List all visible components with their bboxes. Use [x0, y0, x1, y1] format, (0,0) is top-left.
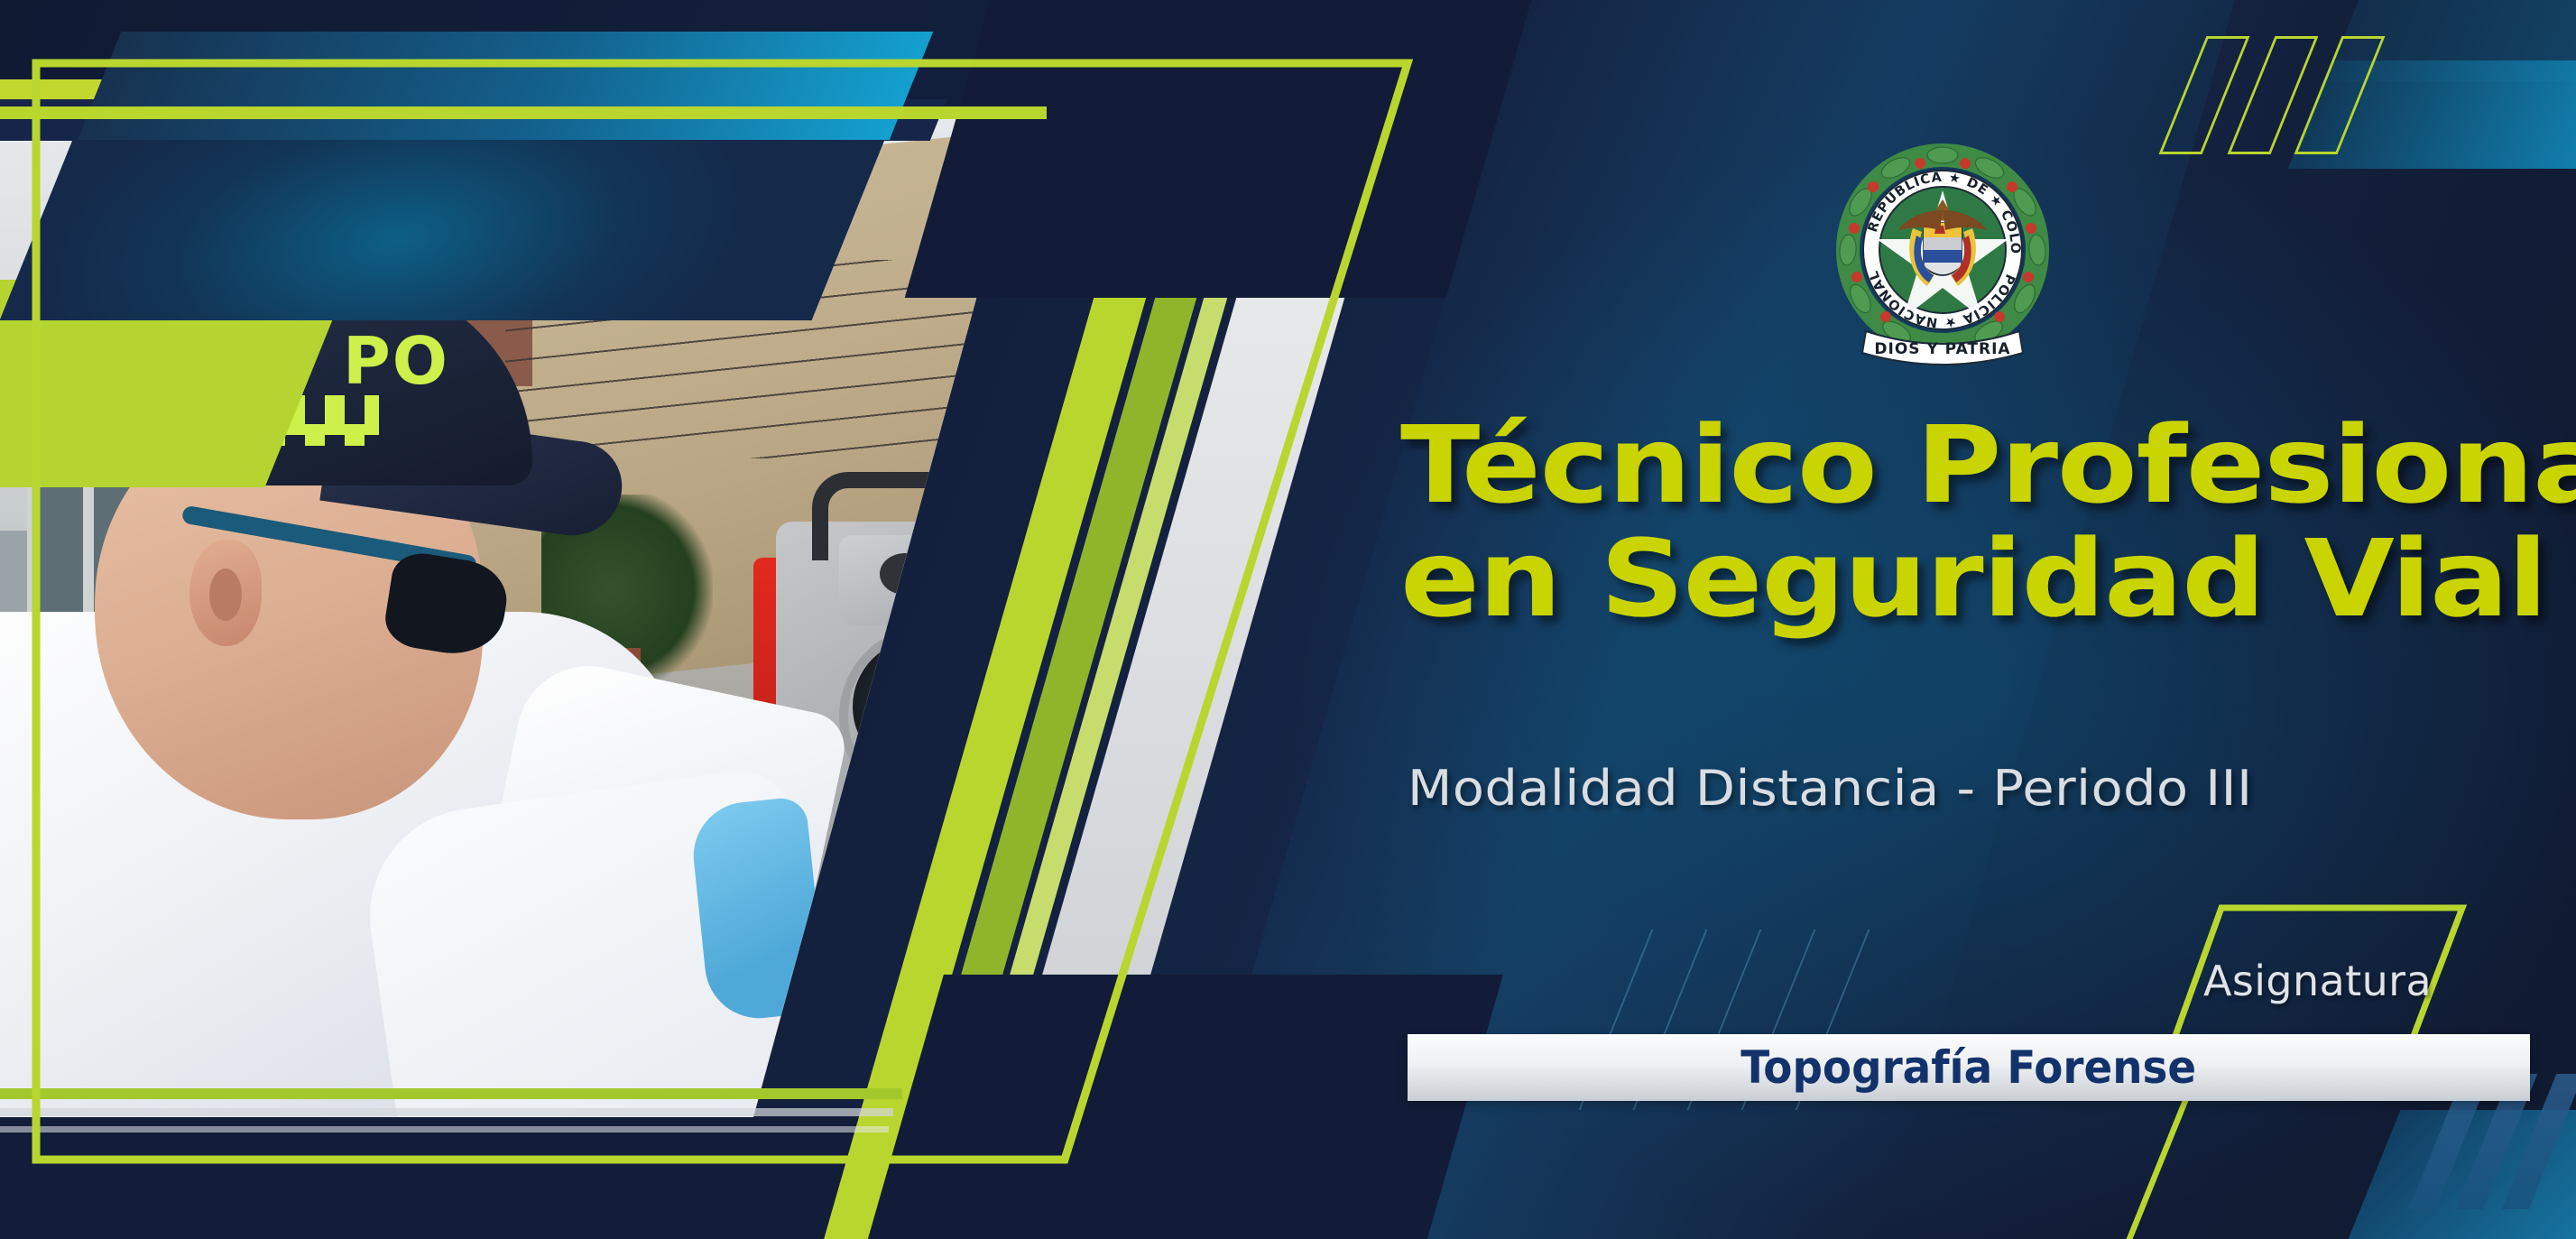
- decor-teal-block-lower: [0, 140, 884, 320]
- decor-teal-block-upper: [78, 32, 933, 140]
- diagonal-mask-bottom: [861, 975, 1503, 1239]
- subject-bar: Topografía Forense: [1408, 1034, 2530, 1101]
- program-subtitle: Modalidad Distancia - Periodo III: [1408, 760, 2252, 817]
- program-title-line2: en Seguridad Vial: [1400, 522, 2576, 635]
- diagonal-mask-top: [905, 0, 1532, 298]
- course-banner: INVIAS PENTAX: [0, 0, 2576, 1239]
- photo-bottom-gray-line: [0, 1108, 893, 1116]
- photo-bottom-gray-line-2: [0, 1126, 889, 1133]
- program-title-line1: Técnico Profesional: [1400, 402, 2576, 527]
- asignatura-label: Asignatura: [2203, 957, 2432, 1005]
- photo-bottom-green-line: [0, 1088, 902, 1099]
- svg-text:DIOS Y PATRIA: DIOS Y PATRIA: [1874, 340, 2010, 358]
- police-crest-emblem: REPÚBLICA ★ DE ★ COLOMBIA POLICÍA ★ NACI…: [1830, 140, 2055, 365]
- program-title: Técnico Profesional en Seguridad Vial: [1400, 408, 2576, 636]
- subject-name: Topografía Forense: [1741, 1041, 2197, 1094]
- officer-ear-inner: [209, 569, 242, 621]
- officer-cap-text: PO: [343, 323, 449, 399]
- photo-top-green-line: [0, 106, 1047, 119]
